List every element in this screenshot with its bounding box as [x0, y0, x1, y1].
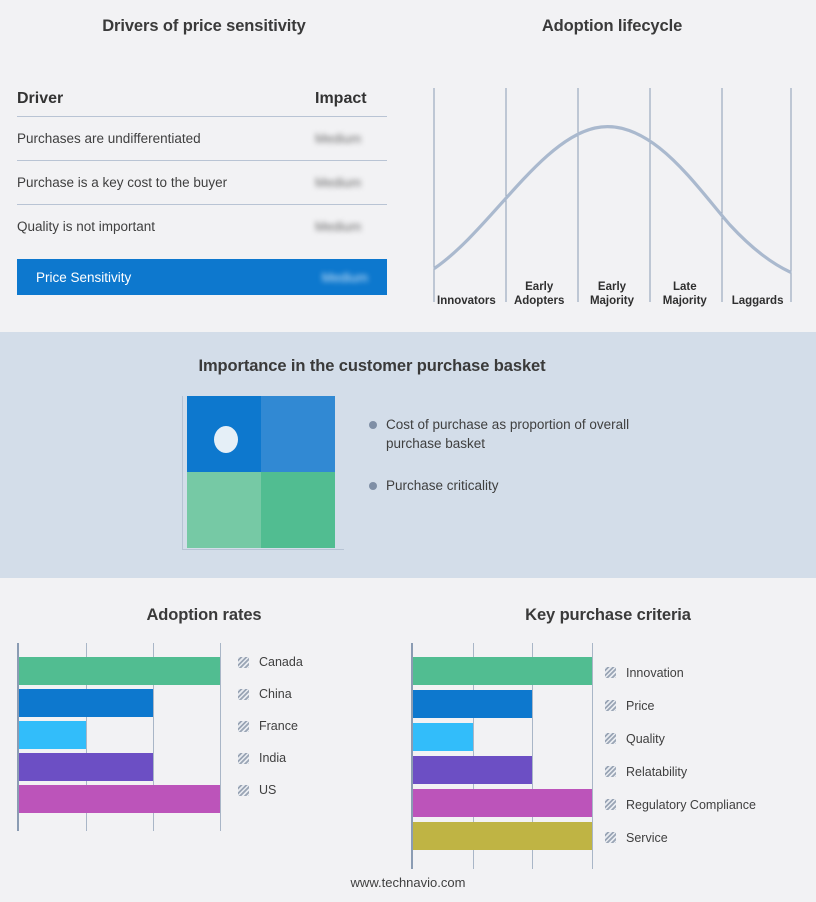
legend-label: Regulatory Compliance	[626, 798, 756, 812]
bar[interactable]	[413, 657, 592, 685]
bar[interactable]	[19, 689, 153, 717]
legend-label: Cost of purchase as proportion of overal…	[386, 416, 652, 453]
adoption-rates-plot	[17, 643, 227, 831]
legend-label: Innovation	[626, 666, 684, 680]
hatched-swatch-icon	[605, 733, 616, 744]
table-row[interactable]: Quality is not important Medium	[17, 205, 387, 248]
legend-label: Purchase criticality	[386, 477, 499, 496]
lifecycle-stage-early-majority: Early Majority	[576, 266, 649, 310]
quadrant-y-axis	[182, 396, 183, 550]
legend-item[interactable]: Price	[605, 689, 756, 722]
key-purchase-criteria-plot	[411, 643, 593, 869]
lifecycle-stage-innovators: Innovators	[430, 266, 503, 310]
bar[interactable]	[413, 789, 592, 817]
legend-label: Service	[626, 831, 668, 845]
adoption-rates-legend: CanadaChinaFranceIndiaUS	[238, 646, 303, 806]
driver-label: Purchase is a key cost to the buyer	[17, 175, 227, 190]
legend-item[interactable]: India	[238, 742, 303, 774]
stage-line1: Early	[576, 280, 649, 294]
table-row[interactable]: Purchases are undifferentiated Medium	[17, 117, 387, 161]
bullet-dot-icon	[369, 482, 377, 490]
key-purchase-criteria-legend: InnovationPriceQualityRelatabilityRegula…	[605, 656, 756, 854]
legend-label: Quality	[626, 732, 665, 746]
stage-line1: Late	[648, 280, 721, 294]
impact-value: Medium	[315, 175, 387, 190]
lifecycle-stage-late-majority: Late Majority	[648, 266, 721, 310]
hatched-swatch-icon	[238, 785, 249, 796]
stage-line2: Innovators	[430, 294, 503, 308]
quadrant-bottom-left[interactable]	[187, 472, 261, 548]
adoption-rates-panel: Adoption rates CanadaChinaFranceIndiaUS	[0, 578, 408, 902]
bullet-dot-icon	[369, 421, 377, 429]
legend-item: Purchase criticality	[369, 477, 699, 496]
stage-line2: Majority	[576, 294, 649, 308]
adoption-rates-title: Adoption rates	[0, 606, 408, 625]
price-sensitivity-row[interactable]: Price Sensitivity Medium	[17, 259, 387, 295]
key-purchase-criteria-title: Key purchase criteria	[400, 606, 816, 625]
legend-item[interactable]: France	[238, 710, 303, 742]
legend-label: Relatability	[626, 765, 687, 779]
stage-line2: Adopters	[503, 294, 576, 308]
legend-label: Canada	[259, 655, 303, 669]
legend-label: Price	[626, 699, 654, 713]
bar[interactable]	[19, 657, 220, 685]
quadrant-position-marker	[214, 426, 238, 453]
adoption-lifecycle-panel: Adoption lifecycle Innovators Early Adop…	[408, 0, 816, 332]
stage-line1: Early	[503, 280, 576, 294]
key-purchase-criteria-panel: Key purchase criteria InnovationPriceQua…	[400, 578, 816, 902]
legend-item[interactable]: Relatability	[605, 755, 756, 788]
lifecycle-stage-early-adopters: Early Adopters	[503, 266, 576, 310]
importance-title: Importance in the customer purchase bask…	[0, 357, 744, 376]
chart-gridline	[592, 643, 593, 869]
lifecycle-title: Adoption lifecycle	[408, 17, 816, 36]
hatched-swatch-icon	[238, 689, 249, 700]
legend-label: China	[259, 687, 292, 701]
quadrant-x-axis	[182, 549, 344, 550]
lifecycle-stage-laggards: Laggards	[721, 266, 794, 310]
footer-url: www.technavio.com	[0, 875, 816, 890]
driver-label: Quality is not important	[17, 219, 155, 234]
bell-curve-path	[435, 127, 790, 272]
driver-label: Purchases are undifferentiated	[17, 131, 201, 146]
quadrant-grid	[187, 396, 335, 548]
impact-value: Medium	[315, 131, 387, 146]
legend-item[interactable]: Innovation	[605, 656, 756, 689]
legend-item: Cost of purchase as proportion of overal…	[369, 416, 699, 453]
quadrant-bottom-right[interactable]	[261, 472, 335, 548]
hatched-swatch-icon	[238, 721, 249, 732]
stage-line2: Majority	[648, 294, 721, 308]
bar[interactable]	[413, 756, 532, 784]
lifecycle-chart: Innovators Early Adopters Early Majority…	[430, 80, 794, 310]
drivers-table: Driver Impact Purchases are undifferenti…	[17, 90, 387, 295]
bar[interactable]	[19, 785, 220, 813]
hatched-swatch-icon	[605, 667, 616, 678]
legend-item[interactable]: Service	[605, 821, 756, 854]
hatched-swatch-icon	[605, 700, 616, 711]
bar[interactable]	[413, 822, 592, 850]
legend-item[interactable]: China	[238, 678, 303, 710]
chart-gridline	[220, 643, 221, 831]
hatched-swatch-icon	[238, 753, 249, 764]
bar[interactable]	[413, 723, 473, 751]
impact-value: Medium	[322, 270, 368, 285]
legend-item[interactable]: Quality	[605, 722, 756, 755]
legend-label: India	[259, 751, 286, 765]
bar[interactable]	[413, 690, 532, 718]
drivers-title: Drivers of price sensitivity	[0, 17, 408, 36]
hatched-swatch-icon	[238, 657, 249, 668]
column-header-impact: Impact	[315, 90, 387, 108]
bar[interactable]	[19, 753, 153, 781]
legend-item[interactable]: Regulatory Compliance	[605, 788, 756, 821]
impact-value: Medium	[315, 219, 387, 234]
hatched-swatch-icon	[605, 832, 616, 843]
quadrant-top-left[interactable]	[187, 396, 261, 472]
importance-legend: Cost of purchase as proportion of overal…	[369, 416, 699, 520]
quadrant-top-right[interactable]	[261, 396, 335, 472]
drivers-table-header: Driver Impact	[17, 90, 387, 117]
legend-label: US	[259, 783, 276, 797]
drivers-panel: Drivers of price sensitivity Driver Impa…	[0, 0, 408, 332]
table-row[interactable]: Purchase is a key cost to the buyer Medi…	[17, 161, 387, 205]
legend-item[interactable]: US	[238, 774, 303, 806]
legend-label: France	[259, 719, 298, 733]
bar[interactable]	[19, 721, 86, 749]
stage-line2: Laggards	[721, 294, 794, 308]
hatched-swatch-icon	[605, 799, 616, 810]
quadrant-chart	[182, 396, 330, 548]
legend-item[interactable]: Canada	[238, 646, 303, 678]
driver-label: Price Sensitivity	[36, 270, 131, 285]
hatched-swatch-icon	[605, 766, 616, 777]
column-header-driver: Driver	[17, 90, 63, 108]
importance-panel: Importance in the customer purchase bask…	[0, 332, 816, 578]
lifecycle-stage-labels: Innovators Early Adopters Early Majority…	[430, 266, 794, 310]
